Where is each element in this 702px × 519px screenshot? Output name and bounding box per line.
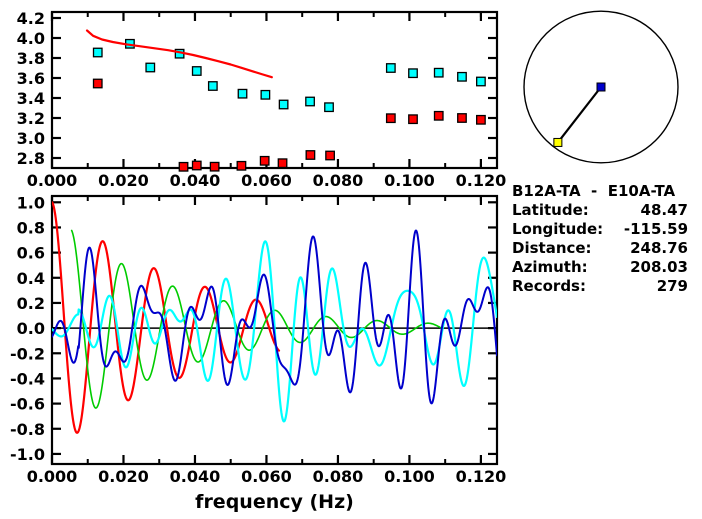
data-marker xyxy=(434,68,443,77)
y-tick-label: 4.0 xyxy=(17,29,45,48)
y-tick-label: -0.6 xyxy=(10,395,45,414)
y-tick-label: 0.0 xyxy=(17,319,45,338)
data-marker xyxy=(326,151,335,160)
y-tick-label: 3.0 xyxy=(17,129,45,148)
y-tick-label: -0.8 xyxy=(10,420,45,439)
x-axis-label: frequency (Hz) xyxy=(195,491,354,513)
x-tick-label: 0.120 xyxy=(456,467,507,486)
data-marker xyxy=(477,77,486,86)
x-tick-label: 0.120 xyxy=(456,171,507,190)
x-tick-label: 0.000 xyxy=(27,467,78,486)
info-label: Latitude: xyxy=(512,201,589,220)
data-marker xyxy=(146,63,155,72)
data-marker xyxy=(325,103,334,112)
y-tick-label: 0.8 xyxy=(17,218,45,237)
data-marker xyxy=(278,159,287,168)
data-marker xyxy=(94,79,103,88)
data-marker xyxy=(387,114,396,123)
info-value: -115.59 xyxy=(624,220,688,239)
y-tick-label: 3.8 xyxy=(17,49,45,68)
x-tick-label: 0.040 xyxy=(170,171,221,190)
info-value: 208.03 xyxy=(630,258,688,277)
figure-root: 2.83.03.23.43.63.84.04.20.0000.0200.0400… xyxy=(0,0,702,519)
data-marker xyxy=(260,157,269,166)
y-tick-label: 0.6 xyxy=(17,244,45,263)
info-label: Records: xyxy=(512,277,586,296)
y-tick-label: 3.4 xyxy=(17,89,45,108)
x-tick-label: 0.000 xyxy=(27,171,78,190)
y-tick-label: 4.2 xyxy=(17,9,45,28)
info-label: Azimuth: xyxy=(512,258,588,277)
center-station-marker xyxy=(597,83,605,91)
data-marker xyxy=(238,89,247,98)
data-marker xyxy=(279,100,288,109)
data-marker xyxy=(458,114,467,123)
data-marker xyxy=(193,67,202,76)
info-row: Distance:248.76 xyxy=(512,239,702,258)
data-marker xyxy=(209,82,218,91)
y-tick-label: 3.6 xyxy=(17,69,45,88)
data-marker xyxy=(409,115,418,124)
station-path-line xyxy=(558,87,601,142)
info-panel: B12A-TA - E10A-TALatitude:48.47Longitude… xyxy=(512,182,702,296)
remote-station-marker xyxy=(554,138,562,146)
group-velocity-cyan xyxy=(94,40,486,112)
y-tick-label: 3.2 xyxy=(17,109,45,128)
data-marker xyxy=(434,112,443,121)
x-tick-label: 0.080 xyxy=(313,467,364,486)
y-tick-label: -0.2 xyxy=(10,344,45,363)
phase-velocity-red xyxy=(94,79,486,171)
y-tick-label: 1.0 xyxy=(17,193,45,212)
upper-plot-frame xyxy=(52,12,497,168)
data-marker xyxy=(237,162,246,171)
data-marker xyxy=(94,48,103,57)
data-marker xyxy=(193,161,202,170)
info-row: Longitude:-115.59 xyxy=(512,220,702,239)
y-tick-label: 0.4 xyxy=(17,269,45,288)
data-marker xyxy=(477,116,486,125)
info-value: 248.76 xyxy=(630,239,688,258)
info-value: 279 xyxy=(657,277,688,296)
x-tick-label: 0.040 xyxy=(170,467,221,486)
x-tick-label: 0.100 xyxy=(384,467,435,486)
x-tick-label: 0.060 xyxy=(241,467,292,486)
data-marker xyxy=(306,97,315,106)
y-tick-label: 0.2 xyxy=(17,294,45,313)
data-marker xyxy=(179,163,188,172)
x-tick-label: 0.100 xyxy=(384,171,435,190)
y-tick-label: -1.0 xyxy=(10,445,45,464)
info-label: Longitude: xyxy=(512,220,603,239)
data-marker xyxy=(306,151,315,160)
data-marker xyxy=(210,162,219,171)
x-tick-label: 0.060 xyxy=(241,171,292,190)
data-marker xyxy=(261,91,270,100)
data-marker xyxy=(409,69,418,78)
info-row: Azimuth:208.03 xyxy=(512,258,702,277)
x-tick-label: 0.020 xyxy=(98,467,149,486)
info-label: Distance: xyxy=(512,239,592,258)
y-tick-label: 2.8 xyxy=(17,149,45,168)
data-marker xyxy=(458,73,467,82)
info-value: 48.47 xyxy=(641,201,688,220)
info-row: Latitude:48.47 xyxy=(512,201,702,220)
station-pair-title: B12A-TA - E10A-TA xyxy=(512,182,702,201)
data-marker xyxy=(387,64,396,73)
info-row: Records:279 xyxy=(512,277,702,296)
y-tick-label: -0.4 xyxy=(10,369,45,388)
x-tick-label: 0.020 xyxy=(98,171,149,190)
x-tick-label: 0.080 xyxy=(313,171,364,190)
